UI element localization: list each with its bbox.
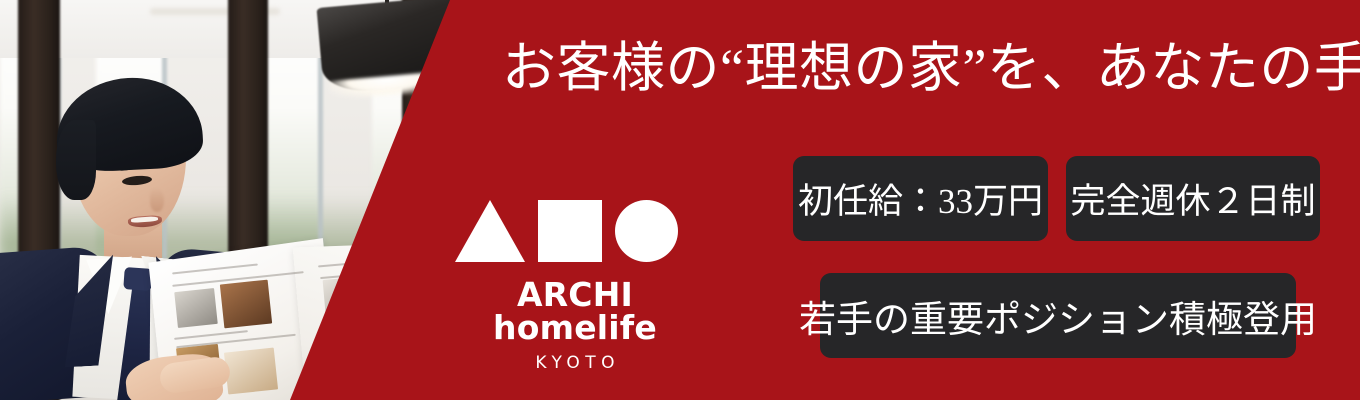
logo-shapes	[455, 198, 695, 262]
circle-icon	[615, 200, 678, 262]
brochure-photo	[174, 288, 218, 328]
recruit-banner: お客様の“理想の家”を、あなたの手で。 ARCHI homelife KYOTO…	[0, 0, 1360, 400]
hair-side	[56, 120, 96, 200]
nose	[150, 188, 164, 212]
badge-position: 若手の重要ポジション積極登用	[820, 273, 1296, 358]
brochure-photo	[220, 280, 272, 329]
logo-brand-name: ARCHI homelife	[455, 278, 695, 344]
triangle-icon	[455, 200, 525, 262]
badge-holidays: 完全週休２日制	[1066, 156, 1320, 241]
brochure-photo	[224, 348, 278, 395]
badge-salary: 初任給：33万円	[793, 156, 1048, 241]
logo: ARCHI homelife KYOTO	[455, 198, 695, 372]
logo-location: KYOTO	[455, 355, 695, 372]
square-icon	[538, 200, 602, 262]
page-title: お客様の“理想の家”を、あなたの手で。	[502, 38, 1352, 98]
